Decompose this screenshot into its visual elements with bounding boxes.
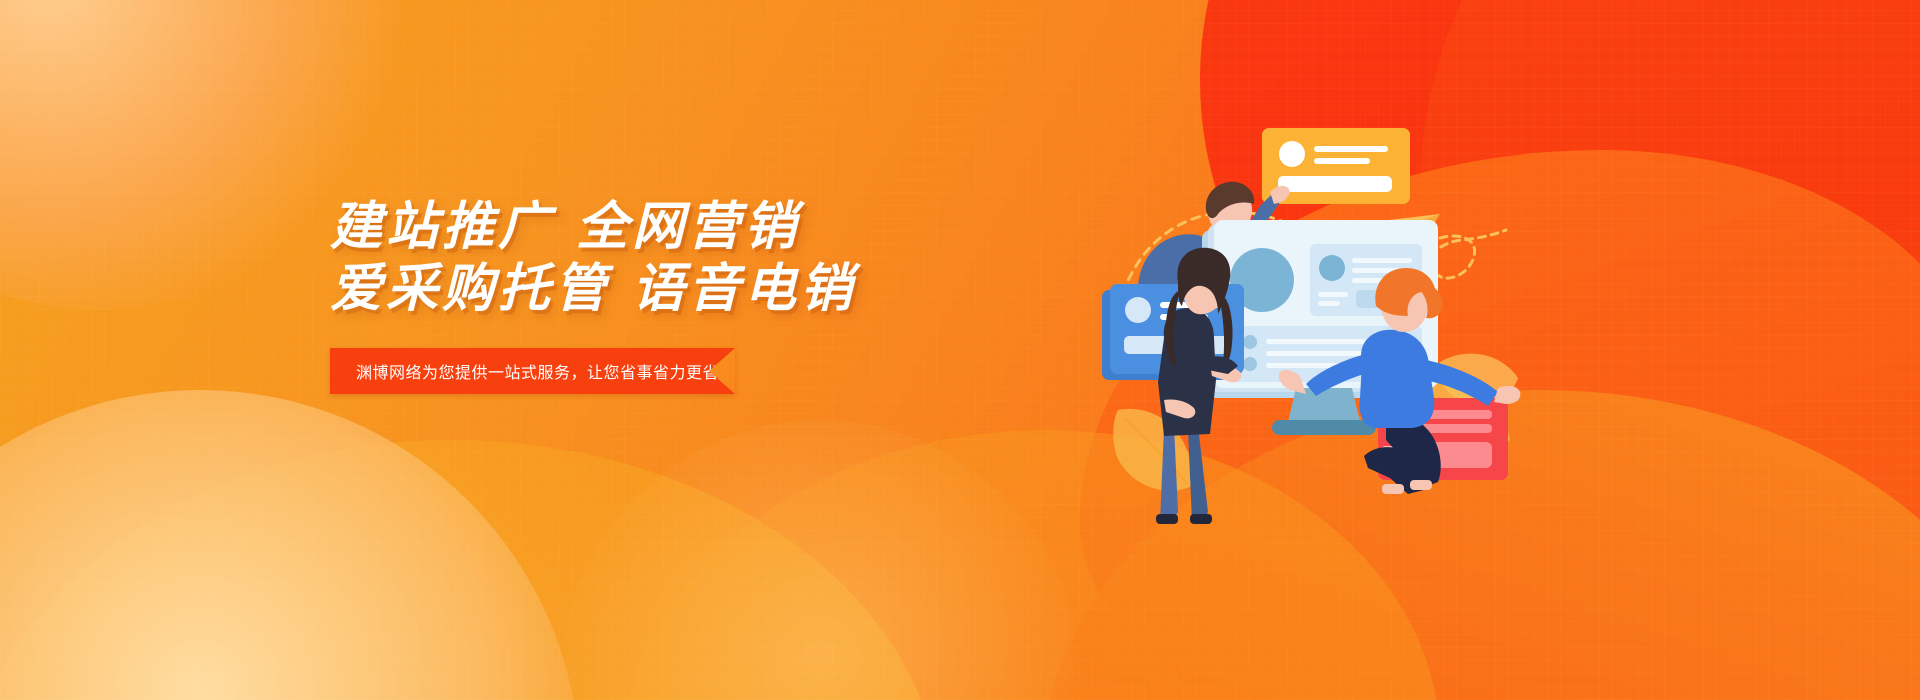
headline-block: 建站推广全网营销 爱采购托管语音电销 渊博网络为您提供一站式服务，让您省事省力更…	[330, 196, 856, 394]
bottom-left-wave	[0, 440, 940, 700]
avatar	[1279, 141, 1305, 167]
headline-line2-part1: 爱采购托管	[330, 260, 610, 318]
monitor-base	[1272, 420, 1376, 435]
background-decoration	[0, 0, 1920, 700]
tagline-ribbon: 渊博网络为您提供一站式服务，让您省事省力更省心	[330, 348, 735, 394]
grid-texture-overlay	[0, 0, 1920, 700]
bottom-left-light-blob	[0, 390, 580, 700]
dashed-trail	[1430, 230, 1506, 278]
center-light-blob	[560, 420, 1080, 700]
headline-line1-part1: 建站推广	[330, 198, 554, 256]
screen-avatar-small	[1319, 255, 1345, 281]
promo-banner: 建站推广全网营销 爱采购托管语音电销 渊博网络为您提供一站式服务，让您省事省力更…	[0, 0, 1920, 700]
tagline-text: 渊博网络为您提供一站式服务，让您省事省力更省心	[330, 359, 736, 383]
avatar	[1125, 297, 1151, 323]
headline-line1-part2: 全网营销	[576, 198, 800, 256]
headline-line-1: 建站推广全网营销	[330, 196, 856, 258]
headline-line2-part2: 语音电销	[632, 260, 856, 318]
headline-line-2: 爱采购托管语音电销	[330, 258, 856, 320]
hero-illustration	[1110, 110, 1530, 570]
monitor-stand	[1288, 388, 1360, 422]
